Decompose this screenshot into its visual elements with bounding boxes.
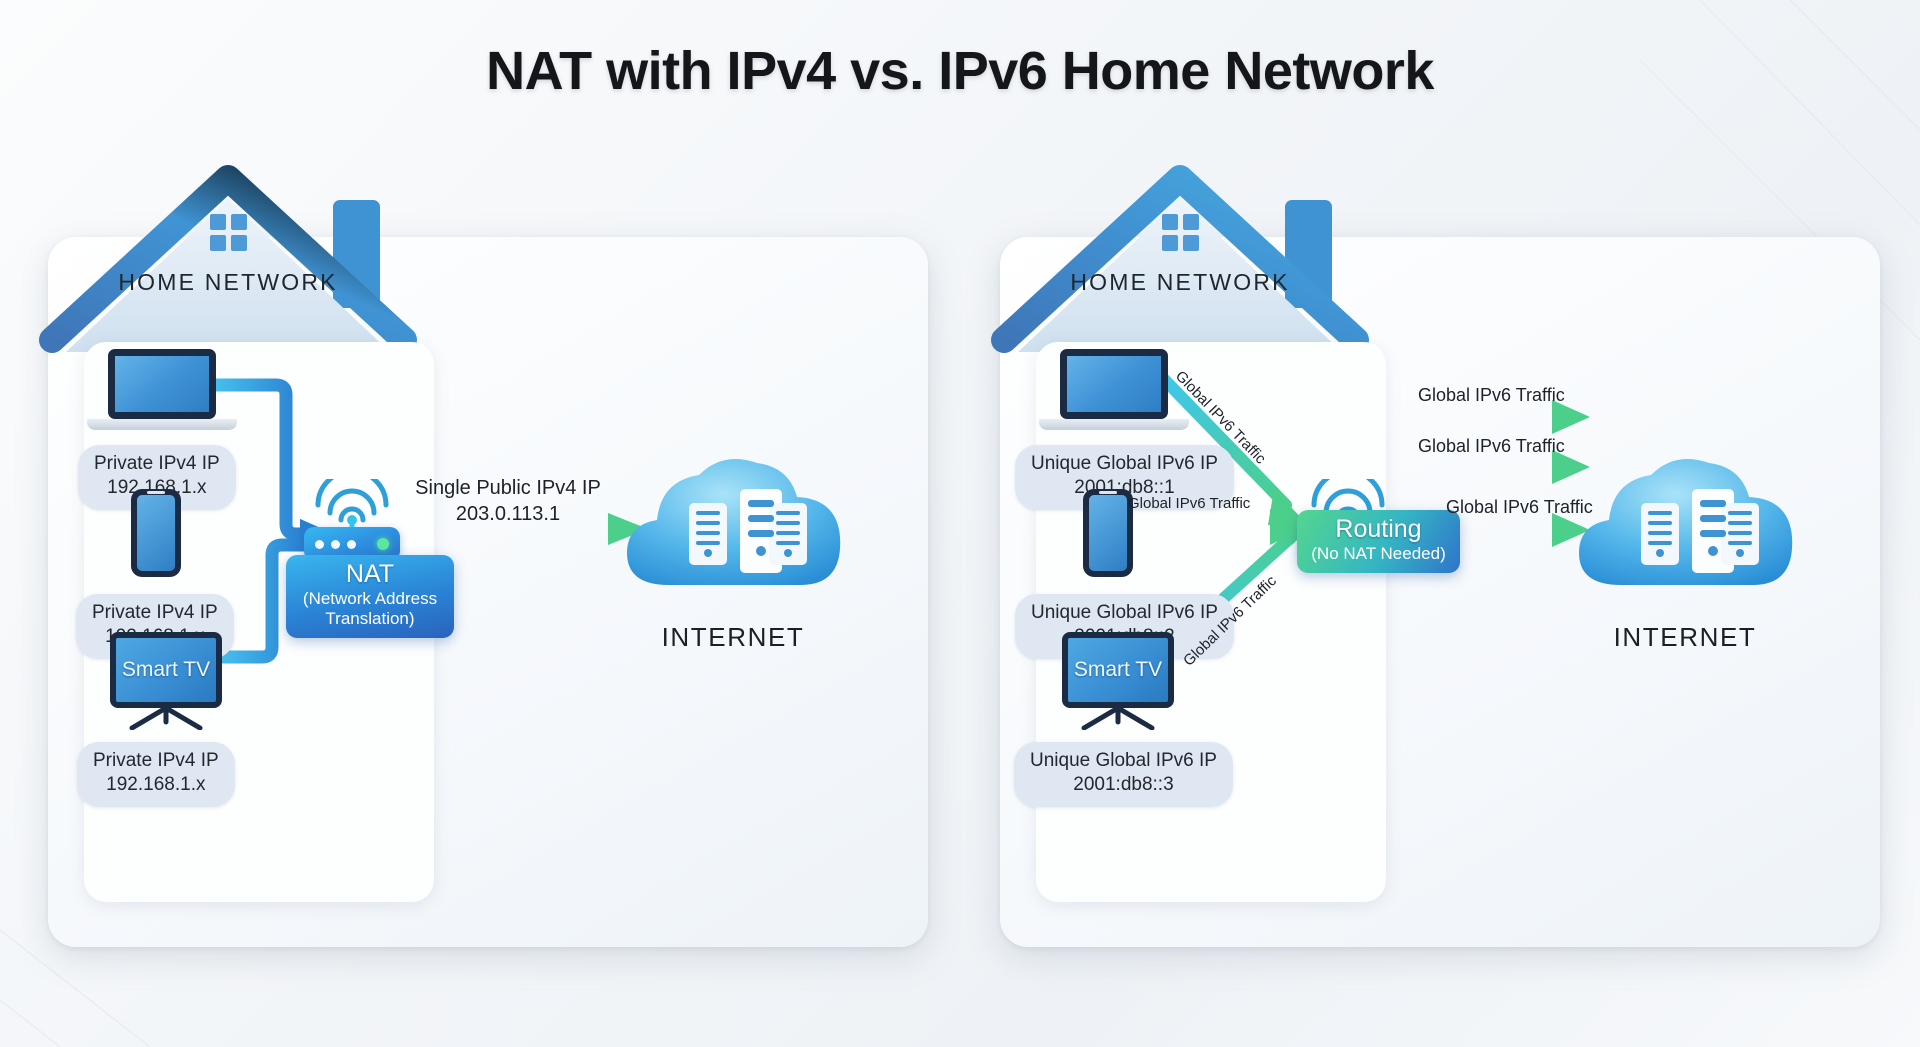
tv-icon: Smart TV xyxy=(1062,632,1174,735)
smartphone-icon xyxy=(131,489,181,577)
smart-tv-label: Smart TV xyxy=(1062,632,1174,708)
smart-tv-label: Smart TV xyxy=(110,632,222,708)
ip-tag-smart-tv-right: Unique Global IPv6 IP 2001:db8::3 xyxy=(1014,742,1233,807)
tv-icon: Smart TV xyxy=(110,632,222,735)
routing-box: Routing (No NAT Needed) xyxy=(1297,510,1460,573)
router-status-led xyxy=(377,538,389,550)
wifi-waves-icon xyxy=(304,479,400,527)
cloud-servers-icon xyxy=(611,445,856,615)
internet-cloud-right: INTERNET xyxy=(1555,445,1815,653)
internet-label-right: INTERNET xyxy=(1555,622,1815,653)
laptop-icon xyxy=(1060,349,1189,430)
smartphone-icon xyxy=(1083,489,1133,577)
internet-cloud-left: INTERNET xyxy=(603,445,863,653)
cloud-servers-icon xyxy=(1563,445,1808,615)
device-smart-tv-left: Smart TV Private IPv4 IP 192.168.1.x xyxy=(110,632,222,735)
device-laptop-right: Unique Global IPv6 IP 2001:db8::1 xyxy=(1060,349,1189,430)
nat-box: NAT (Network Address Translation) xyxy=(286,555,454,638)
laptop-icon xyxy=(108,349,237,430)
router-left[interactable] xyxy=(304,479,400,561)
flow-label-phone: Global IPv6 Traffic xyxy=(1128,495,1250,512)
device-laptop-left: Private IPv4 IP 192.168.1.x xyxy=(108,349,237,430)
ipv4-panel: HOME NETWORK xyxy=(48,237,928,947)
device-smartphone-right: Unique Global IPv6 IP 2001:db8::2 xyxy=(1083,489,1133,577)
ip-tag-smart-tv-left: Private IPv4 IP 192.168.1.x xyxy=(77,742,235,807)
device-smartphone-left: Private IPv4 IP 192.168.1.x xyxy=(131,489,181,577)
ipv6-panel: HOME NETWORK xyxy=(1000,237,1880,947)
internet-flow-label-1: Global IPv6 Traffic xyxy=(1418,385,1565,406)
device-smart-tv-right: Smart TV Unique Global IPv6 IP 2001:db8:… xyxy=(1062,632,1174,735)
public-ip-note: Single Public IPv4 IP 203.0.113.1 xyxy=(403,475,613,527)
internet-flow-label-2: Global IPv6 Traffic xyxy=(1418,436,1565,457)
page-title: NAT with IPv4 vs. IPv6 Home Network xyxy=(0,40,1920,102)
internet-label-left: INTERNET xyxy=(603,622,863,653)
